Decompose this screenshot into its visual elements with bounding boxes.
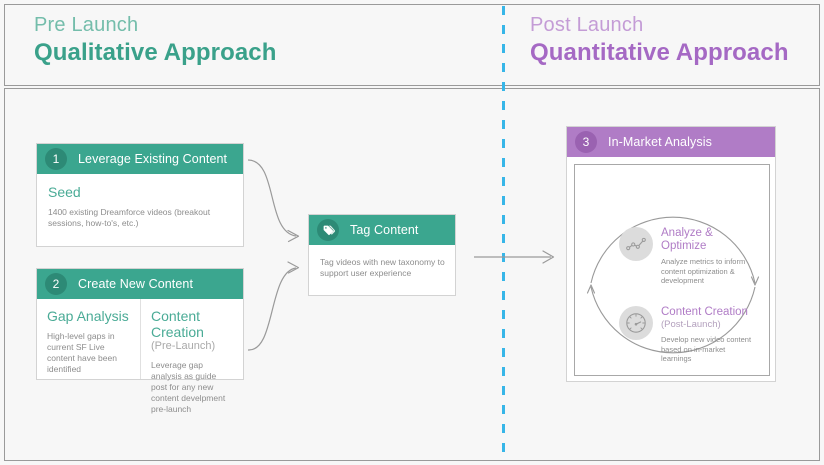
card-body: Tag videos with new taxonomy to support …: [309, 245, 455, 289]
cycle-item-description: Analyze metrics to inform content optimi…: [661, 257, 747, 286]
card-in-market-analysis[interactable]: 3 In-Market Analysis: [566, 126, 776, 382]
column-subtitle: Gap Analysis: [47, 308, 131, 324]
card-title: In-Market Analysis: [608, 135, 712, 149]
card-column-gap-analysis: Gap Analysis High-level gaps in current …: [37, 299, 140, 379]
card-description: Tag videos with new taxonomy to support …: [320, 257, 445, 279]
pre-launch-header: Pre Launch Qualitative Approach: [34, 13, 277, 68]
column-description: High-level gaps in current SF Live conte…: [47, 331, 131, 375]
cycle-item-content-creation[interactable]: Content Creation (Post-Launch) Develop n…: [619, 306, 753, 364]
pre-launch-eyebrow: Pre Launch: [34, 13, 277, 37]
card-header: 1 Leverage Existing Content: [37, 144, 243, 174]
card-body: Seed 1400 existing Dreamforce videos (br…: [37, 174, 243, 239]
cycle-item-subtitle: (Post-Launch): [661, 319, 753, 331]
card-header: 2 Create New Content: [37, 269, 243, 299]
card-header: 3 In-Market Analysis: [567, 127, 775, 157]
card-column-content-creation: Content Creation (Pre-Launch) Leverage g…: [140, 299, 243, 379]
cycle-item-analyze-optimize[interactable]: Analyze & Optimize Analyze metrics to in…: [619, 227, 747, 286]
cycle-item-title: Analyze & Optimize: [661, 227, 747, 253]
column-subtitle: Content Creation: [151, 308, 234, 340]
step-number-badge: 2: [45, 273, 67, 295]
card-description: 1400 existing Dreamforce videos (breakou…: [48, 207, 233, 229]
diagram-canvas: Pre Launch Qualitative Approach Post Lau…: [0, 0, 824, 465]
post-launch-eyebrow: Post Launch: [530, 13, 789, 37]
launch-divider: [502, 6, 505, 459]
cycle-item-title: Content Creation: [661, 306, 753, 319]
post-launch-header: Post Launch Quantitative Approach: [530, 13, 789, 68]
card-title: Leverage Existing Content: [78, 152, 227, 166]
column-subtitle-note: (Pre-Launch): [151, 340, 234, 353]
column-description: Leverage gap analysis as guide post for …: [151, 360, 234, 415]
card-create-new-content[interactable]: 2 Create New Content Gap Analysis High-l…: [36, 268, 244, 380]
cycle-container: Analyze & Optimize Analyze metrics to in…: [574, 164, 770, 376]
card-header: Tag Content: [309, 215, 455, 245]
card-body: Gap Analysis High-level gaps in current …: [37, 299, 243, 379]
card-title: Tag Content: [350, 223, 419, 237]
card-leverage-existing-content[interactable]: 1 Leverage Existing Content Seed 1400 ex…: [36, 143, 244, 247]
pre-launch-title: Qualitative Approach: [34, 38, 277, 68]
line-chart-icon: [619, 227, 653, 261]
gauge-icon: [619, 306, 653, 340]
post-launch-title: Quantitative Approach: [530, 38, 789, 68]
cycle-item-description: Develop new video content based on in-ma…: [661, 335, 753, 364]
card-title: Create New Content: [78, 277, 193, 291]
tag-icon: [317, 219, 339, 241]
step-number-badge: 1: [45, 148, 67, 170]
card-subtitle: Seed: [48, 184, 233, 200]
card-tag-content[interactable]: Tag Content Tag videos with new taxonomy…: [308, 214, 456, 296]
step-number-badge: 3: [575, 131, 597, 153]
